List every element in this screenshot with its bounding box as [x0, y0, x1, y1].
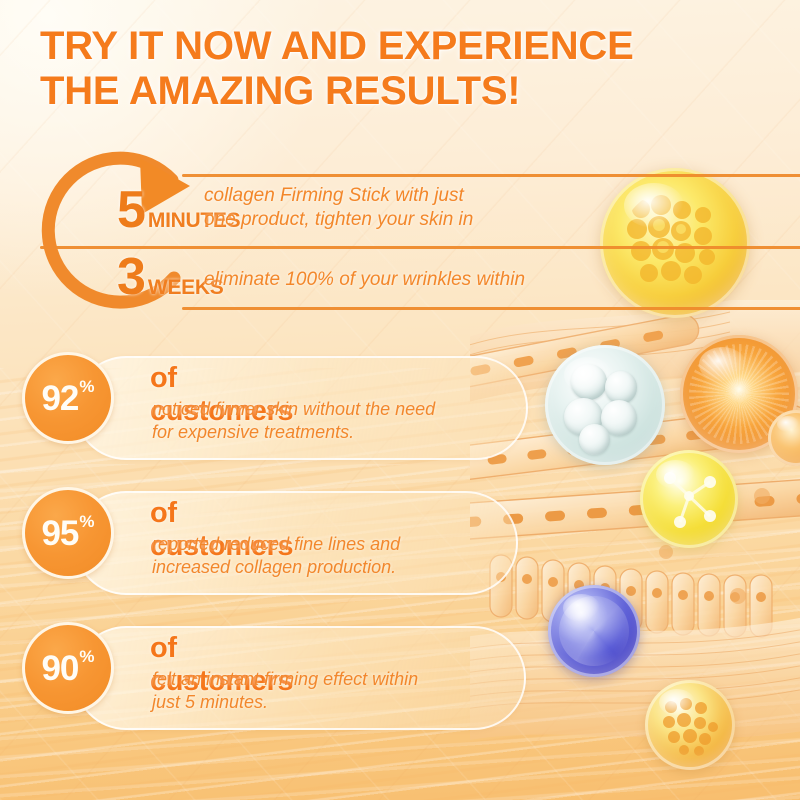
stat-body-line-2: just 5 minutes. — [152, 691, 532, 714]
timing-copy-weeks-line-1: eliminate 100% of your wrinkles within — [204, 268, 674, 292]
divider-line-top — [182, 174, 800, 177]
page-title: TRY IT NOW AND EXPERIENCE THE AMAZING RE… — [40, 24, 740, 114]
timing-claim-block: 5 MINUTES 3 WEEKS collagen Firming Stick… — [22, 150, 792, 315]
timing-number-weeks: 3 — [117, 255, 146, 299]
stat-body: reported reduced fine lines and increase… — [152, 533, 532, 578]
timing-copy-minutes-line-1: collagen Firming Stick with just — [204, 184, 624, 208]
timing-copy-minutes: collagen Firming Stick with just one pro… — [204, 184, 624, 233]
headline-line-1: TRY IT NOW AND EXPERIENCE — [40, 24, 634, 68]
stat-body-line-1: noticed firmer skin without the need — [152, 398, 532, 421]
advertisement-canvas: TRY IT NOW AND EXPERIENCE THE AMAZING RE… — [0, 0, 800, 800]
timing-copy-minutes-line-2: one product, tighten your skin in — [204, 208, 624, 232]
sphere-rim — [645, 680, 735, 770]
stat-body-line-2: for expensive treatments. — [152, 421, 532, 444]
yellow-molecule-sphere — [640, 450, 738, 548]
stat-badge-90: 90 % — [22, 622, 114, 714]
stat-percent-value: 90 — [41, 651, 78, 686]
stat-body-line-1: felt an instant firming effect within — [152, 668, 532, 691]
stat-percent-symbol: % — [79, 512, 94, 532]
bubble-cluster-sphere — [545, 345, 665, 465]
divider-line-bottom — [182, 307, 800, 310]
stat-percent-value: 95 — [41, 516, 78, 551]
stat-percent-symbol: % — [79, 377, 94, 397]
stat-percent-value: 92 — [41, 381, 78, 416]
stat-percent-symbol: % — [79, 647, 94, 667]
timing-copy-weeks: eliminate 100% of your wrinkles within — [204, 268, 674, 292]
sphere-rim — [545, 345, 665, 465]
stat-body: felt an instant firming effect within ju… — [152, 668, 532, 713]
blue-swirl-sphere — [548, 585, 640, 677]
timing-number-minutes: 5 — [117, 188, 146, 232]
stat-body-line-2: increased collagen production. — [152, 556, 532, 579]
sphere-rim — [548, 585, 640, 677]
headline-line-2: THE AMAZING RESULTS! — [40, 69, 740, 114]
stat-badge-92: 92 % — [22, 352, 114, 444]
sphere-rim — [640, 450, 738, 548]
stat-badge-95: 95 % — [22, 487, 114, 579]
stat-body: noticed firmer skin without the need for… — [152, 398, 532, 443]
honeycomb-serum-sphere-small — [645, 680, 735, 770]
stat-body-line-1: reported reduced fine lines and — [152, 533, 532, 556]
